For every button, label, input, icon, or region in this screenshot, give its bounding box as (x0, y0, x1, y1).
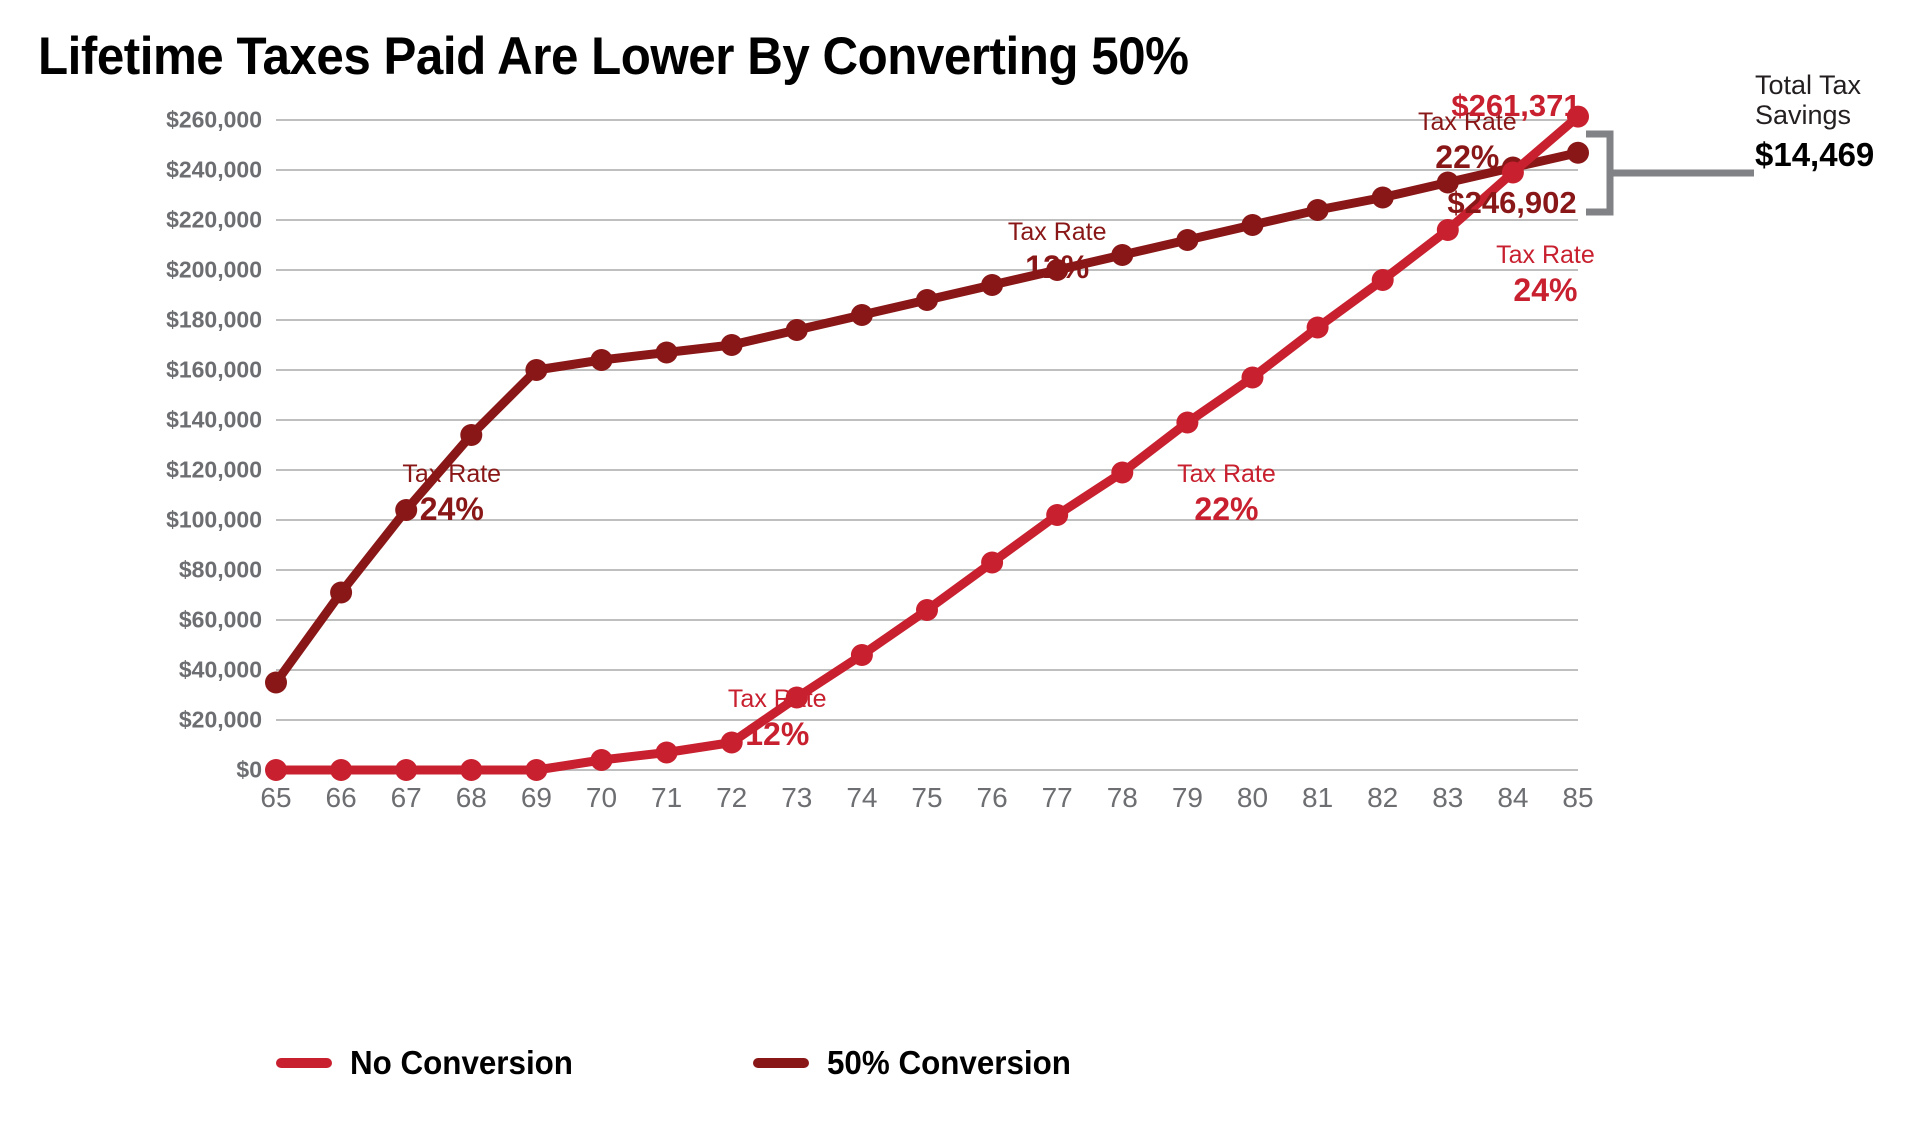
tax-rate-value: 24% (1496, 270, 1595, 310)
x-axis-tick-label: 85 (1562, 782, 1593, 814)
x-axis-tick-label: 76 (977, 782, 1008, 814)
data-point-marker (981, 274, 1003, 296)
x-axis-tick-label: 75 (911, 782, 942, 814)
data-point-marker (1176, 229, 1198, 251)
y-axis-tick-label: $120,000 (166, 457, 262, 484)
y-axis-tick-label: $200,000 (166, 257, 262, 284)
legend-item[interactable]: 50% Conversion (753, 1044, 1084, 1082)
tax-rate-caption: Tax Rate (1496, 241, 1595, 270)
data-point-marker (330, 582, 352, 604)
y-axis-tick-label: $0 (236, 757, 262, 784)
data-point-marker (395, 759, 417, 781)
data-point-marker (721, 334, 743, 356)
data-point-marker (656, 742, 678, 764)
page-title: Lifetime Taxes Paid Are Lower By Convert… (38, 26, 1188, 87)
x-axis-tick-label: 79 (1172, 782, 1203, 814)
savings-caption-line1: Total Tax (1755, 70, 1915, 100)
endpoint-value-label: $261,371 (1451, 88, 1580, 124)
x-axis-tick-label: 77 (1042, 782, 1073, 814)
data-point-marker (591, 749, 613, 771)
x-axis-tick-label: 65 (260, 782, 291, 814)
x-axis-tick-label: 68 (456, 782, 487, 814)
series-layer (276, 120, 1578, 770)
data-point-marker (851, 644, 873, 666)
data-point-marker (525, 359, 547, 381)
data-point-marker (1111, 244, 1133, 266)
tax-rate-caption: Tax Rate (728, 685, 827, 714)
x-axis-tick-label: 82 (1367, 782, 1398, 814)
x-axis-tick-label: 72 (716, 782, 747, 814)
data-point-marker (265, 672, 287, 694)
data-point-marker (460, 424, 482, 446)
data-point-marker (1307, 317, 1329, 339)
data-point-marker (1372, 269, 1394, 291)
legend-label: 50% Conversion (827, 1044, 1071, 1082)
y-axis-tick-label: $180,000 (166, 307, 262, 334)
total-tax-savings-callout: Total Tax Savings $14,469 (1755, 70, 1915, 174)
y-axis: $0$20,000$40,000$60,000$80,000$100,000$1… (0, 120, 262, 770)
legend-item[interactable]: No Conversion (276, 1044, 585, 1082)
chart-container: Lifetime Taxes Paid Are Lower By Convert… (0, 0, 1920, 1139)
tax-rate-value: 22% (1418, 137, 1517, 177)
x-axis-tick-label: 80 (1237, 782, 1268, 814)
data-point-marker (1437, 219, 1459, 241)
tax-rate-value: 22% (1177, 489, 1276, 529)
legend-label: No Conversion (350, 1044, 573, 1082)
x-axis: 6566676869707172737475767778798081828384… (276, 782, 1578, 828)
x-axis-tick-label: 67 (391, 782, 422, 814)
x-axis-tick-label: 69 (521, 782, 552, 814)
data-point-marker (916, 289, 938, 311)
tax-rate-annotation: Tax Rate24% (402, 460, 501, 529)
endpoint-value-label: $246,902 (1447, 185, 1576, 221)
tax-rate-annotation: Tax Rate12% (1008, 218, 1107, 287)
savings-caption-line2: Savings (1755, 100, 1915, 130)
data-point-marker (1307, 199, 1329, 221)
data-point-marker (591, 349, 613, 371)
data-point-marker (1242, 214, 1264, 236)
tax-rate-annotation: Tax Rate22% (1177, 460, 1276, 529)
y-axis-tick-label: $140,000 (166, 407, 262, 434)
y-axis-tick-label: $220,000 (166, 207, 262, 234)
data-point-marker (851, 304, 873, 326)
tax-rate-annotation: Tax Rate12% (728, 685, 827, 754)
data-point-marker (1372, 187, 1394, 209)
x-axis-tick-label: 66 (326, 782, 357, 814)
tax-rate-annotation: Tax Rate24% (1496, 241, 1595, 310)
x-axis-tick-label: 74 (846, 782, 877, 814)
tax-rate-caption: Tax Rate (1008, 218, 1107, 247)
data-point-marker (981, 552, 1003, 574)
y-axis-tick-label: $100,000 (166, 507, 262, 534)
x-axis-tick-label: 81 (1302, 782, 1333, 814)
y-axis-tick-label: $240,000 (166, 157, 262, 184)
tax-rate-caption: Tax Rate (1177, 460, 1276, 489)
y-axis-tick-label: $20,000 (179, 707, 262, 734)
legend-swatch-icon (753, 1058, 809, 1068)
legend: No Conversion50% Conversion (276, 1036, 1251, 1090)
x-axis-tick-label: 78 (1107, 782, 1138, 814)
data-point-marker (1176, 412, 1198, 434)
data-point-marker (1111, 462, 1133, 484)
savings-bracket-icon (1580, 128, 1760, 218)
data-point-marker (1046, 504, 1068, 526)
y-axis-tick-label: $60,000 (179, 607, 262, 634)
x-axis-tick-label: 71 (651, 782, 682, 814)
tax-rate-value: 24% (402, 489, 501, 529)
data-point-marker (460, 759, 482, 781)
plot-area (276, 120, 1578, 770)
data-point-marker (1242, 367, 1264, 389)
tax-rate-value: 12% (728, 714, 827, 754)
legend-swatch-icon (276, 1058, 332, 1068)
tax-rate-value: 12% (1008, 247, 1107, 287)
x-axis-tick-label: 70 (586, 782, 617, 814)
data-point-marker (525, 759, 547, 781)
data-point-marker (916, 599, 938, 621)
savings-value: $14,469 (1755, 136, 1915, 174)
data-point-marker (656, 342, 678, 364)
x-axis-tick-label: 84 (1497, 782, 1528, 814)
tax-rate-caption: Tax Rate (402, 460, 501, 489)
y-axis-tick-label: $40,000 (179, 657, 262, 684)
data-point-marker (330, 759, 352, 781)
y-axis-tick-label: $160,000 (166, 357, 262, 384)
data-point-marker (786, 319, 808, 341)
data-point-marker (265, 759, 287, 781)
x-axis-tick-label: 83 (1432, 782, 1463, 814)
y-axis-tick-label: $80,000 (179, 557, 262, 584)
x-axis-tick-label: 73 (781, 782, 812, 814)
y-axis-tick-label: $260,000 (166, 107, 262, 134)
